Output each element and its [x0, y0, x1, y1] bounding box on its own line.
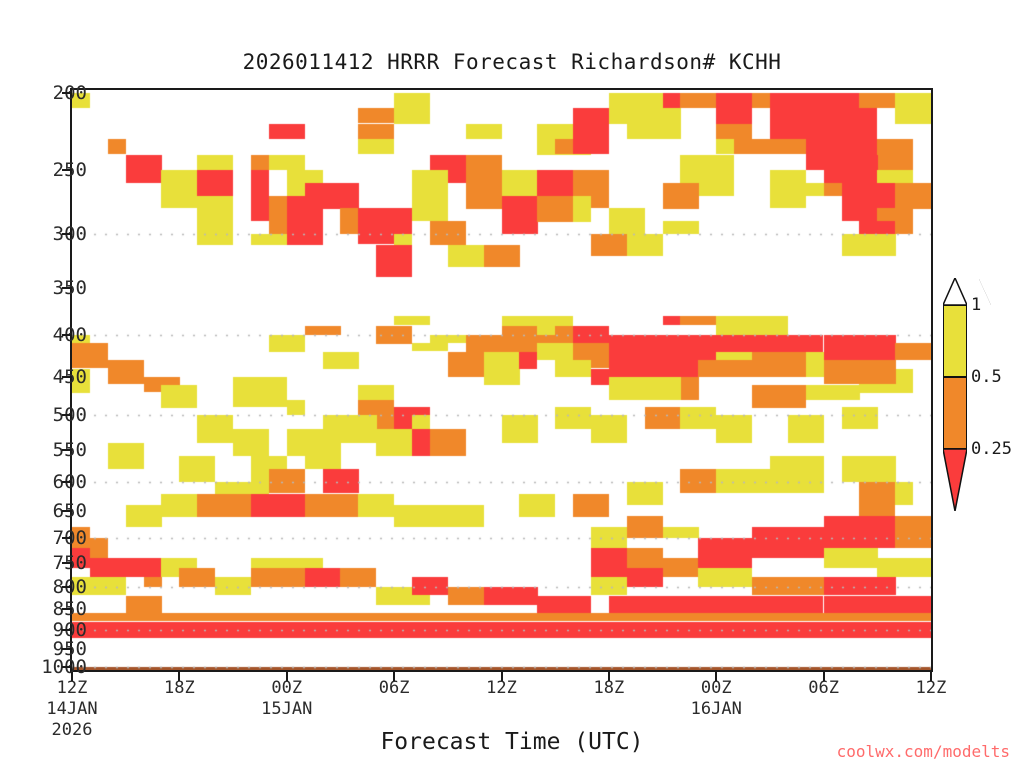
colorbar-bottom-arrow [943, 449, 967, 511]
y-tick-mark-400 [62, 334, 72, 336]
y-tick-mark-750 [62, 562, 72, 564]
x-tick-hour: 12Z [916, 678, 947, 698]
y-tick-mark-550 [62, 449, 72, 451]
x-tick-label-1: 18Z [164, 678, 195, 698]
y-tick-mark-850 [62, 608, 72, 610]
x-tick-hour: 18Z [164, 678, 195, 698]
x-tick-label-7: 06Z [808, 678, 839, 698]
chart-page: 2026011412 HRRR Forecast Richardson# KCH… [0, 0, 1024, 768]
watermark: coolwx.com/modelts [837, 742, 1010, 761]
x-tick-hour: 12Z [46, 678, 97, 698]
x-tick-mark-4 [501, 672, 503, 681]
colorbar-segment-0.5[interactable] [943, 305, 967, 377]
y-tick-mark-1000 [62, 666, 72, 668]
y-tick-mark-900 [62, 629, 72, 631]
x-tick-label-3: 06Z [379, 678, 410, 698]
x-tick-mark-7 [823, 672, 825, 681]
x-tick-mark-0 [71, 672, 73, 681]
x-tick-mark-8 [930, 672, 932, 681]
x-tick-mark-3 [393, 672, 395, 681]
colorbar-top-arrow-outline [943, 278, 967, 305]
x-tick-day: 15JAN [261, 699, 312, 719]
x-tick-hour: 18Z [594, 678, 625, 698]
grid-lines [72, 90, 931, 670]
y-tick-mark-300 [62, 233, 72, 235]
x-tick-mark-5 [608, 672, 610, 681]
y-tick-mark-200 [62, 92, 72, 94]
x-tick-mark-2 [286, 672, 288, 681]
chart-title: 2026011412 HRRR Forecast Richardson# KCH… [0, 50, 1024, 74]
x-tick-label-5: 18Z [594, 678, 625, 698]
x-tick-label-4: 12Z [486, 678, 517, 698]
x-tick-hour: 12Z [486, 678, 517, 698]
y-tick-mark-350 [62, 287, 72, 289]
y-tick-mark-250 [62, 169, 72, 171]
x-tick-hour: 06Z [808, 678, 839, 698]
x-tick-hour: 06Z [379, 678, 410, 698]
x-tick-mark-1 [178, 672, 180, 681]
y-tick-mark-700 [62, 537, 72, 539]
x-tick-mark-6 [715, 672, 717, 681]
y-tick-mark-800 [62, 586, 72, 588]
y-tick-mark-950 [62, 648, 72, 650]
y-tick-mark-650 [62, 510, 72, 512]
x-tick-day: 14JAN [46, 699, 97, 719]
y-tick-mark-450 [62, 376, 72, 378]
plot-area[interactable] [70, 88, 933, 672]
y-tick-mark-500 [62, 414, 72, 416]
colorbar-segment-0.25[interactable] [943, 377, 967, 449]
colorbar[interactable]: 10.50.25 [943, 305, 967, 475]
colorbar-label-0.25: 0.25 [971, 439, 1012, 459]
x-tick-label-8: 12Z [916, 678, 947, 698]
x-tick-label-6: 00Z16JAN [691, 678, 742, 719]
colorbar-label-1: 1 [971, 295, 981, 315]
colorbar-label-0.5: 0.5 [971, 367, 1002, 387]
x-tick-hour: 00Z [691, 678, 742, 698]
y-tick-mark-600 [62, 481, 72, 483]
x-tick-day: 16JAN [691, 699, 742, 719]
x-tick-hour: 00Z [261, 678, 312, 698]
x-tick-label-2: 00Z15JAN [261, 678, 312, 719]
